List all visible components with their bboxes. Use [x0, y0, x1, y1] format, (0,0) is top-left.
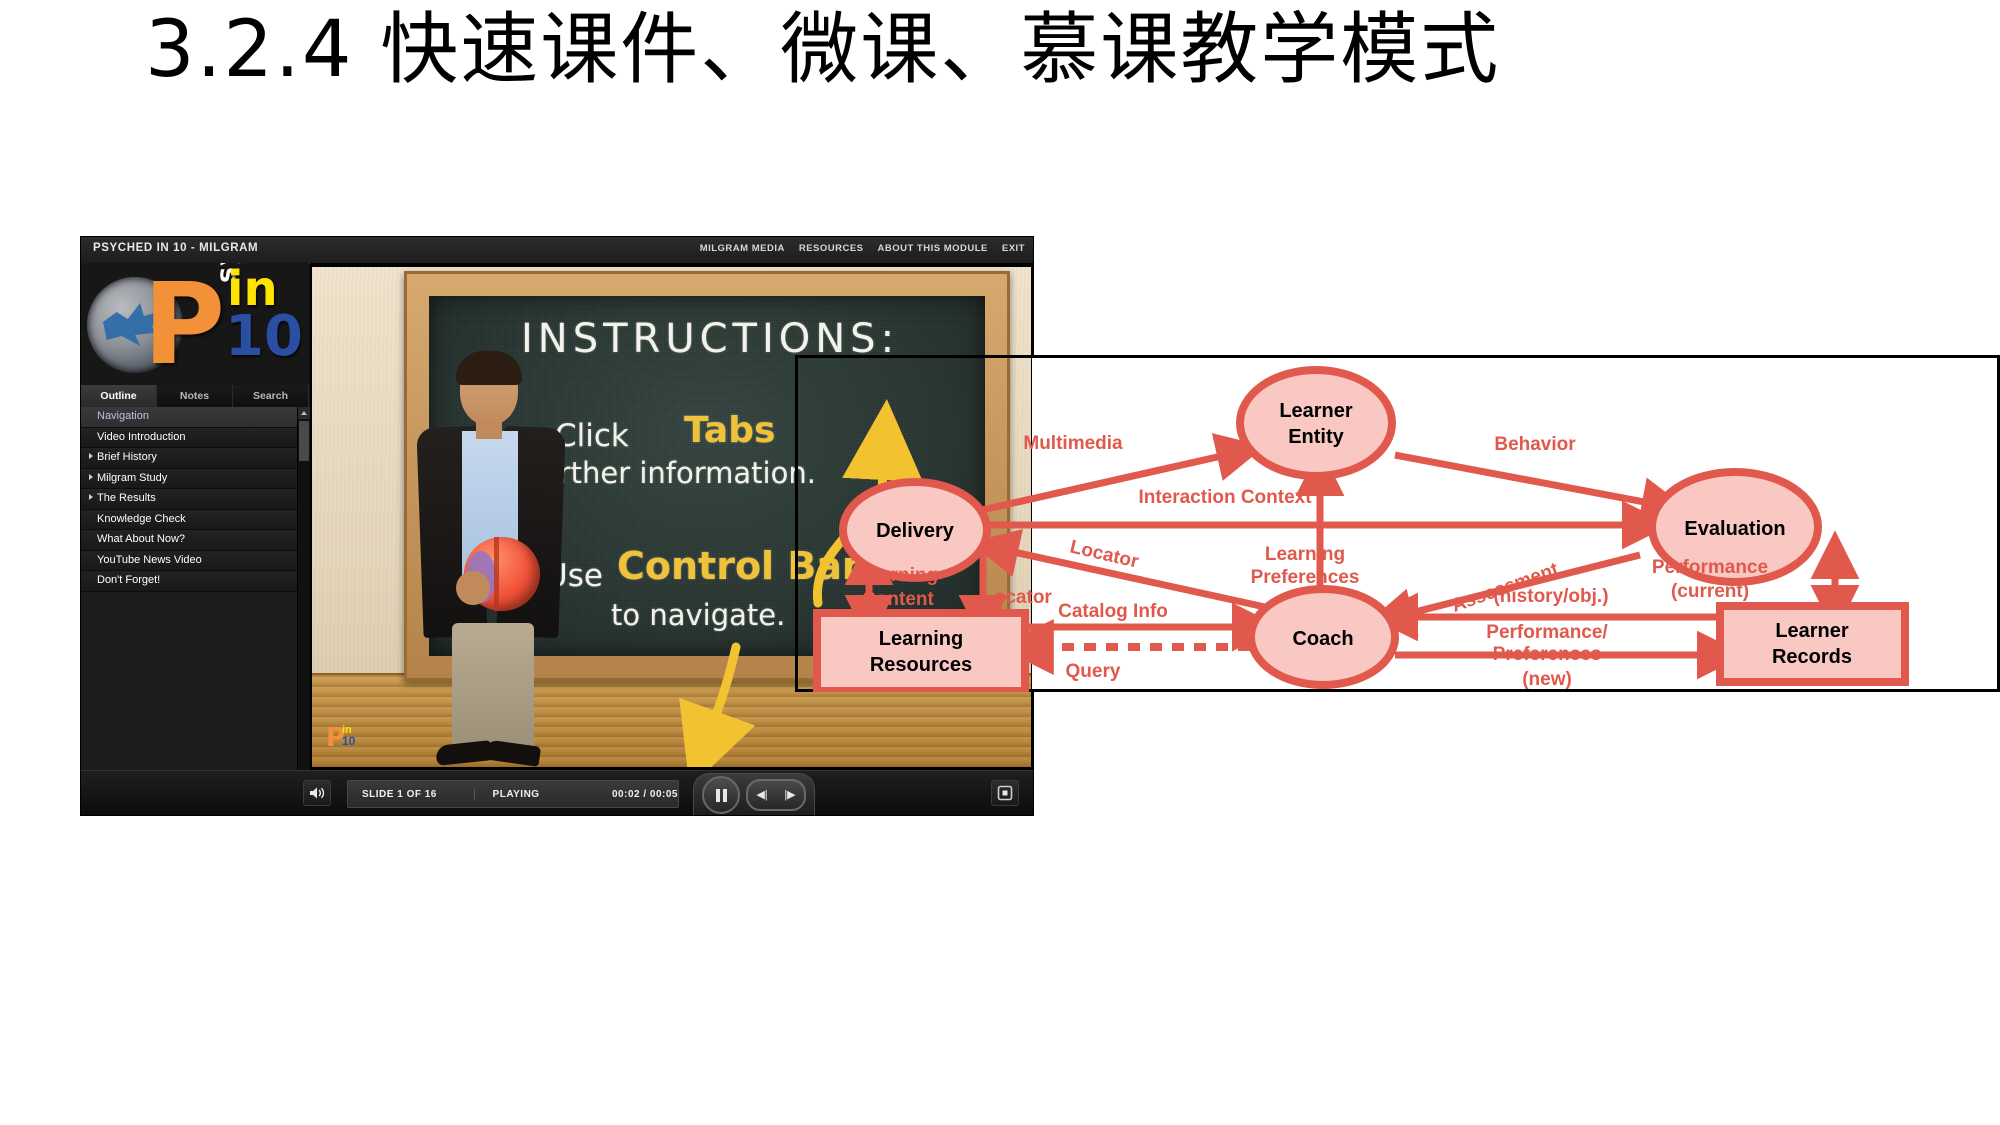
outline-item-label: Video Introduction [97, 431, 185, 443]
nav-item-milgram-media[interactable]: MILGRAM MEDIA [700, 243, 785, 254]
step-controls[interactable]: ◀| |▶ [746, 779, 806, 811]
scrollbar-thumb[interactable] [299, 421, 309, 461]
nav-item-resources[interactable]: RESOURCES [799, 243, 864, 254]
edge-label-performance-current-1: Performance [1652, 557, 1768, 578]
edge-label-learning-content-1: Learning [858, 565, 938, 586]
outline-item-label: The Results [97, 492, 156, 504]
slide-counter: SLIDE 1 OF 16 [348, 789, 474, 800]
outline-item-milgram-study[interactable]: Milgram Study [81, 469, 297, 490]
transport-controls: ◀| |▶ [693, 773, 815, 816]
diagram-canvas: Delivery Learner Entity Evaluation Coach… [795, 355, 2000, 692]
edge-learner-entity-to-evaluation [1395, 455, 1660, 505]
hair [456, 351, 522, 385]
chalk-line4: to navigate. [611, 598, 785, 632]
scroll-up-icon[interactable] [298, 407, 310, 419]
pause-button[interactable] [702, 776, 740, 814]
edge-label-learning-preferences-1: Learning [1265, 544, 1345, 565]
logo-letter-p: P [143, 269, 225, 381]
edge-label-perf-pref-1: Performance/ [1486, 622, 1608, 643]
node-learner-records-label-1: Learner [1775, 620, 1849, 642]
trousers [452, 623, 534, 755]
logo-number-10: 10 [225, 309, 303, 365]
time-display: 00:02 / 00:05 [606, 789, 678, 800]
node-learning-resources[interactable] [817, 613, 1025, 691]
node-learner-entity-label-2: Entity [1288, 426, 1344, 448]
node-delivery-label: Delivery [876, 520, 955, 542]
edge-label-catalog-info: Catalog Info [1058, 601, 1168, 622]
outline-item-label: Navigation [97, 410, 149, 422]
outline-item-youtube-news-video[interactable]: YouTube News Video [81, 551, 297, 572]
expand-caret-icon[interactable] [89, 474, 93, 480]
node-learner-records[interactable] [1720, 606, 1905, 682]
node-learner-records-label-2: Records [1772, 646, 1852, 668]
play-state: PLAYING [474, 789, 606, 800]
node-evaluation-label: Evaluation [1684, 518, 1785, 540]
outline-item-brief-history[interactable]: Brief History [81, 448, 297, 469]
step-forward-icon[interactable]: |▶ [784, 790, 795, 801]
node-coach-label: Coach [1292, 628, 1353, 650]
learning-system-diagram: Delivery Learner Entity Evaluation Coach… [795, 355, 2000, 692]
watermark-logo: P in 10 [326, 725, 366, 751]
outline-item-label: What About Now? [97, 533, 185, 545]
outline-item-video-introduction[interactable]: Video Introduction [81, 428, 297, 449]
volume-button[interactable] [303, 780, 331, 806]
expand-caret-icon[interactable] [89, 453, 93, 459]
outline-item-label: Knowledge Check [97, 513, 186, 525]
page-title: 3.2.4 快速课件、微课、慕课教学模式 [0, 2, 2000, 98]
outline-scrollbar[interactable] [297, 407, 310, 797]
diagram-nodes: Delivery Learner Entity Evaluation Coach… [817, 370, 1905, 691]
fullscreen-button[interactable] [991, 780, 1019, 806]
player-course-title: PSYCHED IN 10 - MILGRAM [93, 242, 258, 254]
player-header: PSYCHED IN 10 - MILGRAM MILGRAM MEDIA RE… [81, 237, 1033, 264]
outline-item-knowledge-check[interactable]: Knowledge Check [81, 510, 297, 531]
node-learner-entity-label-1: Learner [1279, 400, 1353, 422]
edge-label-locator-down: Locator [982, 587, 1052, 608]
edge-label-learning-content-2: Content [862, 589, 934, 610]
hand [456, 571, 490, 605]
presenter-photo [412, 355, 582, 755]
outline-item-navigation[interactable]: Navigation [81, 407, 297, 428]
edge-label-history-obj: (history/obj.) [1493, 586, 1608, 607]
edge-label-interaction-context: Interaction Context [1138, 487, 1312, 508]
player-control-bar: SLIDE 1 OF 16 PLAYING 00:02 / 00:05 ◀| |… [81, 770, 1033, 815]
node-learner-entity[interactable] [1240, 370, 1392, 476]
psyched-in-10-logo: P syched in 10 [81, 263, 309, 385]
outline-item-label: Milgram Study [97, 472, 167, 484]
player-nav: MILGRAM MEDIA RESOURCES ABOUT THIS MODUL… [700, 243, 1025, 254]
expand-caret-icon[interactable] [89, 494, 93, 500]
tab-outline[interactable]: Outline [81, 385, 157, 407]
tab-search[interactable]: Search [233, 385, 309, 407]
pause-bar-left [716, 789, 720, 802]
watermark-number-10: 10 [342, 735, 355, 747]
player-status-group[interactable]: SLIDE 1 OF 16 PLAYING 00:02 / 00:05 [347, 780, 679, 808]
nav-item-exit[interactable]: EXIT [1002, 243, 1025, 254]
outline-item-label: Brief History [97, 451, 157, 463]
edge-label-learning-preferences-2: Preferences [1251, 567, 1360, 588]
outline-item-dont-forget[interactable]: Don't Forget! [81, 571, 297, 592]
step-back-icon[interactable]: ◀| [756, 790, 767, 801]
outline-item-label: Don't Forget! [97, 574, 160, 586]
outline-list: Navigation Video Introduction Brief Hist… [81, 407, 297, 797]
edge-label-perf-pref-2: Preferences [1493, 644, 1602, 665]
chalk-line1-highlight: Tabs [684, 410, 775, 451]
edge-label-query: Query [1066, 661, 1121, 682]
player-sidebar: P syched in 10 Outline Notes Search Navi… [81, 263, 309, 797]
outline-item-what-about-now[interactable]: What About Now? [81, 530, 297, 551]
speaker-icon [309, 786, 325, 800]
outline-item-label: YouTube News Video [97, 554, 202, 566]
tab-notes[interactable]: Notes [157, 385, 233, 407]
pause-bar-right [723, 789, 727, 802]
sidebar-tabs: Outline Notes Search [81, 385, 309, 408]
node-learning-resources-label-2: Resources [870, 654, 972, 676]
outline-item-the-results[interactable]: The Results [81, 489, 297, 510]
edge-label-behavior: Behavior [1494, 434, 1576, 455]
edge-label-perf-pref-3: (new) [1522, 669, 1572, 690]
edge-label-performance-current-2: (current) [1671, 581, 1749, 602]
edge-label-multimedia: Multimedia [1023, 433, 1123, 454]
nav-item-about-this-module[interactable]: ABOUT THIS MODULE [878, 243, 988, 254]
node-learning-resources-label-1: Learning [879, 628, 963, 650]
fullscreen-icon [997, 785, 1013, 801]
